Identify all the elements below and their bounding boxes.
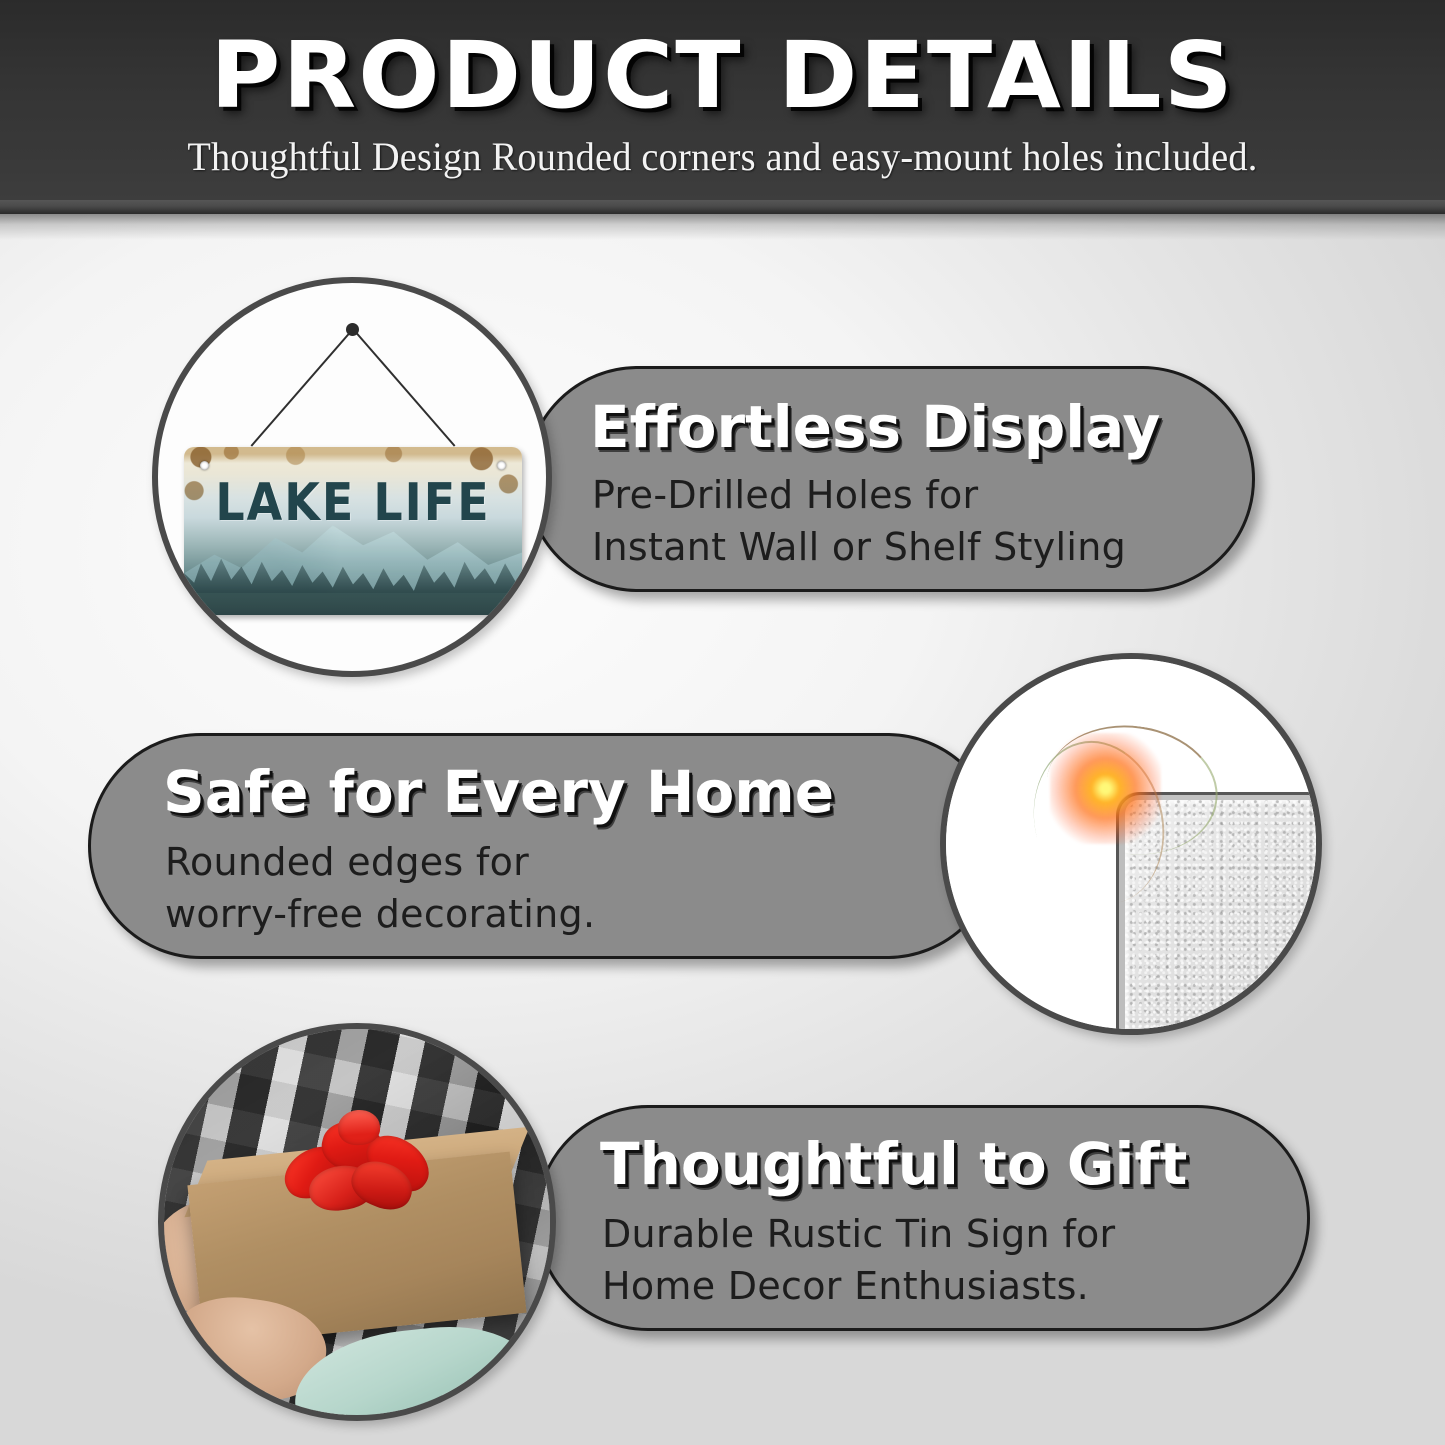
- feature-line-2: worry-free decorating.: [165, 892, 595, 936]
- product-details-infographic: PRODUCT DETAILS Thoughtful Design Rounde…: [0, 0, 1445, 1445]
- feature-line-2: Instant Wall or Shelf Styling: [592, 525, 1126, 569]
- hanging-cord-right: [251, 328, 354, 446]
- lake-life-hanging-sign-photo: LAKE LIFE: [152, 277, 552, 677]
- hanging-cord-left: [352, 328, 455, 446]
- page-title: PRODUCT DETAILS: [0, 22, 1445, 129]
- feature-title: Thoughtful to Gift: [600, 1130, 1187, 1198]
- rounded-corner-closeup-photo: [940, 653, 1322, 1035]
- feature-panel-thoughtful-to-gift: Thoughtful to Gift Durable Rustic Tin Si…: [535, 1105, 1310, 1331]
- feature-line-1: Pre-Drilled Holes for: [592, 473, 978, 517]
- mount-hole-left-icon: [200, 461, 209, 470]
- red-ribbon-bow: [280, 1110, 442, 1226]
- feature-line-1: Durable Rustic Tin Sign for: [602, 1212, 1115, 1256]
- gift-box-with-red-bow-photo: [158, 1023, 556, 1421]
- hanging-nail-icon: [346, 323, 359, 336]
- tin-sign: LAKE LIFE: [184, 447, 522, 615]
- sign-text: LAKE LIFE: [184, 472, 522, 532]
- safety-glow-highlight: [1050, 733, 1161, 844]
- mount-hole-right-icon: [497, 461, 506, 470]
- page-subtitle: Thoughtful Design Rounded corners and ea…: [29, 133, 1416, 180]
- header-drop-shadow: [0, 214, 1445, 240]
- feature-title: Safe for Every Home: [163, 758, 834, 826]
- feature-title: Effortless Display: [590, 393, 1160, 461]
- feature-line-2: Home Decor Enthusiasts.: [602, 1264, 1089, 1308]
- header-banner: PRODUCT DETAILS Thoughtful Design Rounde…: [0, 0, 1445, 200]
- feature-line-1: Rounded edges for: [165, 840, 529, 884]
- header-divider-strip: [0, 200, 1445, 214]
- feature-panel-effortless-display: Effortless Display Pre-Drilled Holes for…: [525, 366, 1255, 592]
- feature-panel-safe-for-every-home: Safe for Every Home Rounded edges for wo…: [88, 733, 1000, 959]
